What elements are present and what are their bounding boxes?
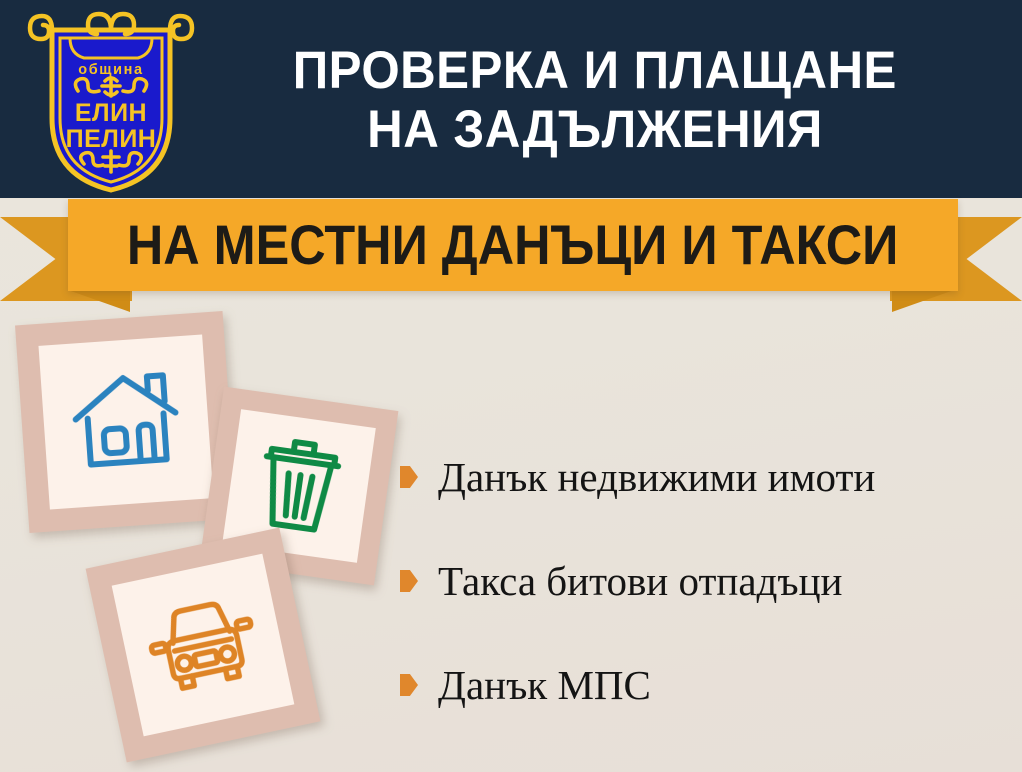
stamp-paper bbox=[38, 334, 213, 509]
ribbon-fold-left bbox=[68, 290, 130, 312]
arrow-bullet-icon bbox=[400, 466, 418, 488]
page-title-line-1: ПРОВЕРКА И ПЛАЩАНЕ bbox=[293, 42, 897, 99]
list-item-label: Данък МПС bbox=[438, 665, 651, 706]
ribbon-fold-right bbox=[892, 290, 954, 312]
arrow-bullet-icon bbox=[400, 570, 418, 592]
arrow-bullet-icon bbox=[400, 674, 418, 696]
poster-canvas: община ЕЛИН ПЕЛИН bbox=[0, 0, 1022, 772]
list-item-label: Данък недвижими имоти bbox=[438, 457, 875, 498]
list-item-label: Такса битови отпадъци bbox=[438, 561, 842, 602]
page-title: ПРОВЕРКА И ПЛАЩАНЕ НА ЗАДЪЛЖЕНИЯ bbox=[180, 20, 1010, 180]
stamp-paper bbox=[112, 554, 295, 737]
stamp-card-vehicle bbox=[86, 528, 321, 763]
subtitle-text: НА МЕСТНИ ДАНЪЦИ И ТАКСИ bbox=[127, 217, 898, 273]
trash-bin-icon bbox=[247, 431, 352, 541]
crest-svg: община ЕЛИН ПЕЛИН bbox=[22, 8, 200, 194]
list-item[interactable]: Такса битови отпадъци bbox=[400, 529, 1015, 633]
municipality-crest-logo: община ЕЛИН ПЕЛИН bbox=[22, 8, 200, 194]
car-icon bbox=[140, 589, 267, 702]
list-item[interactable]: Данък недвижими имоти bbox=[400, 425, 1015, 529]
house-icon bbox=[67, 366, 186, 478]
subtitle-ribbon: НА МЕСТНИ ДАНЪЦИ И ТАКСИ bbox=[68, 199, 958, 291]
crest-name-line2: ПЕЛИН bbox=[66, 125, 157, 153]
crest-name-line1: ЕЛИН bbox=[75, 99, 147, 127]
services-list: Данък недвижими имоти Такса битови отпад… bbox=[400, 425, 1015, 737]
crest-top-text: община bbox=[78, 62, 143, 78]
list-item[interactable]: Данък МПС bbox=[400, 633, 1015, 737]
stamp-card-property bbox=[15, 311, 237, 533]
page-title-line-2: НА ЗАДЪЛЖЕНИЯ bbox=[367, 101, 823, 158]
